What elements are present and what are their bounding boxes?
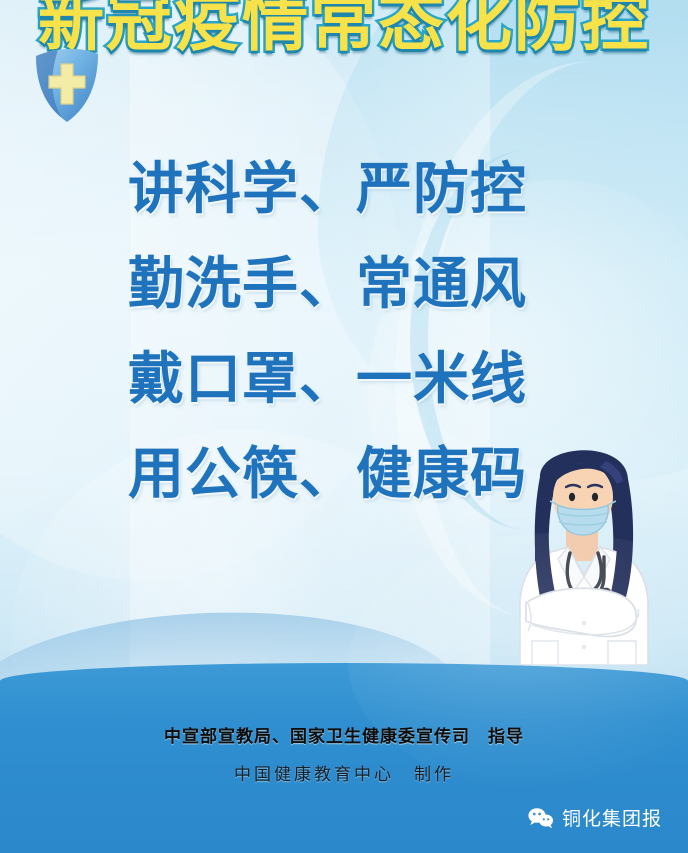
watermark: 铜化集团报 bbox=[528, 804, 662, 831]
female-doctor-with-mask-icon bbox=[488, 425, 678, 665]
watermark-text: 铜化集团报 bbox=[562, 804, 662, 831]
poster-canvas: 新冠疫情常态化防控 新冠疫情常态化防控 讲科学、严防控 勤洗手、常通风 戴口罩、… bbox=[0, 0, 688, 853]
slogan-line: 讲科学、严防控 bbox=[128, 160, 568, 220]
shield-with-cross-icon bbox=[28, 40, 106, 130]
poster-title: 新冠疫情常态化防控 bbox=[38, 0, 650, 62]
slogan-line: 勤洗手、常通风 bbox=[128, 255, 568, 315]
credit-line-producer: 中国健康教育中心 制作 bbox=[0, 760, 688, 785]
wechat-icon bbox=[528, 807, 554, 829]
slogan-line: 戴口罩、一米线 bbox=[128, 350, 568, 410]
credit-line-guidance: 中宣部宣教局、国家卫生健康委宣传司 指导 bbox=[0, 722, 688, 747]
